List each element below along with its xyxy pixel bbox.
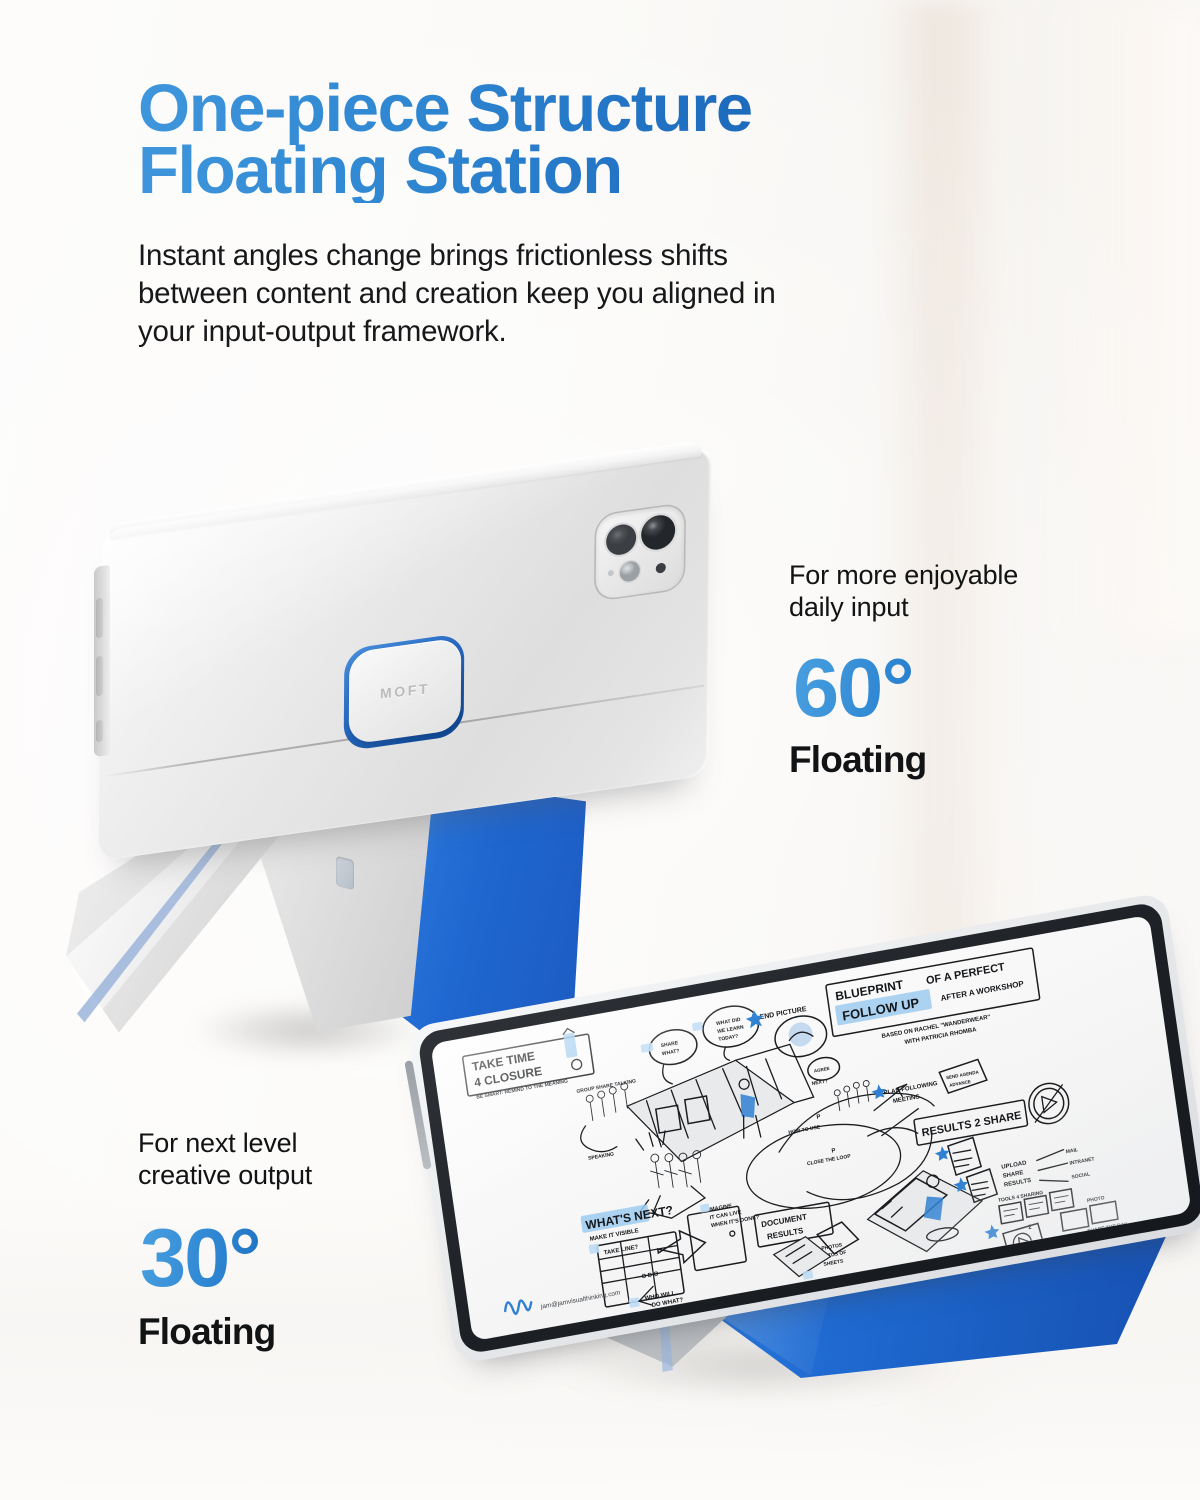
svg-text:RESULTS: RESULTS: [766, 1226, 804, 1242]
camera-flash-icon: [620, 560, 640, 583]
svg-text:AGREE: AGREE: [814, 1066, 830, 1074]
brand-badge-face: MOFT: [349, 637, 462, 745]
callout-60-mode-label: Floating: [789, 739, 1018, 781]
callout-30-mode-label: Floating: [138, 1311, 312, 1353]
sketch-take-time-box: TAKE TIME 4 CLOSURE BE SMART: REMIND TO …: [461, 1025, 595, 1102]
svg-text:SPEAKING: SPEAKING: [588, 1151, 615, 1162]
callout-60-angle-value: 60°: [793, 646, 1018, 729]
device-60-stand-notch: [336, 856, 354, 890]
camera-lens-main-icon: [641, 513, 675, 552]
page-subtitle: Instant angles change brings frictionles…: [138, 237, 1038, 352]
camera-lens-wide-icon: [606, 523, 636, 557]
svg-text:WHAT'S NEXT?: WHAT'S NEXT?: [585, 1203, 674, 1233]
brand-badge-label: MOFT: [380, 680, 430, 701]
svg-text:MAIL: MAIL: [1065, 1147, 1078, 1155]
svg-text:RESULTS: RESULTS: [1004, 1178, 1032, 1189]
product-tablet-30-degree: TAKE TIME 4 CLOSURE BE SMART: REMIND TO …: [418, 940, 1200, 1460]
svg-text:INTRANET: INTRANET: [1069, 1156, 1095, 1166]
device-60-volume-up-button: [96, 597, 103, 638]
callout-60-degree: For more enjoyable daily input 60° Float…: [789, 560, 1018, 781]
sketch-document-results: DOCUMENT RESULTS MAKE PHOTOS NO PHOTOS O…: [754, 1198, 863, 1287]
svg-text:WHAT?: WHAT?: [662, 1048, 680, 1057]
callout-30-angle-value: 30°: [140, 1216, 312, 1299]
svg-text:O D O: O D O: [641, 1271, 659, 1280]
camera-mic-icon: [608, 570, 614, 577]
svg-text:SOCIAL: SOCIAL: [1071, 1171, 1090, 1180]
camera-module-icon: [596, 504, 685, 601]
svg-text:P: P: [831, 1148, 836, 1155]
device-60-volume-down-button: [96, 655, 103, 696]
sketch-center-cluster: SHARE WHAT? WHAT DID WE LEARN TODAY? END…: [566, 990, 849, 1232]
callout-60-lead: For more enjoyable daily input: [789, 560, 1018, 624]
svg-text:HOW TO USE: HOW TO USE: [788, 1124, 821, 1136]
device-60-power-button: [96, 719, 103, 742]
callout-30-lead: For next level creative output: [138, 1128, 312, 1192]
svg-text:CLOSE THE LOOP: CLOSE THE LOOP: [807, 1153, 852, 1167]
svg-text:MEETING: MEETING: [893, 1094, 921, 1105]
callout-30-degree: For next level creative output 30° Float…: [138, 1128, 312, 1353]
svg-text:P: P: [816, 1114, 821, 1121]
svg-text:SHARE: SHARE: [1002, 1170, 1024, 1180]
camera-lidar-icon: [656, 562, 666, 573]
sketch-results-share: RESULTS 2 SHARE: [912, 1080, 1071, 1147]
svg-text:UPLOAD: UPLOAD: [1001, 1160, 1027, 1171]
page-title: One-piece Structure Floating Station: [138, 78, 1038, 203]
svg-text:TODAY?: TODAY?: [718, 1033, 739, 1042]
brand-badge: MOFT: [349, 637, 462, 745]
svg-text:jam@jamvisualthinking.com: jam@jamvisualthinking.com: [539, 1289, 620, 1310]
svg-text:SEND AGENDA: SEND AGENDA: [946, 1069, 980, 1080]
hero-text-block: One-piece Structure Floating Station Ins…: [138, 78, 1038, 352]
svg-text:END PICTURE: END PICTURE: [759, 1006, 807, 1021]
